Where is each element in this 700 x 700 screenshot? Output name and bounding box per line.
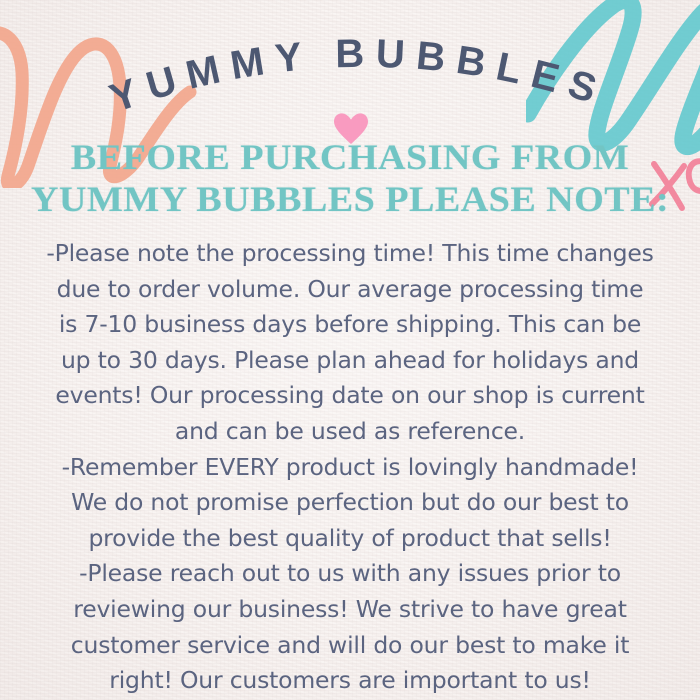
body-line: is 7-10 business days before shipping. T… — [22, 307, 678, 343]
body-line: right! Our customers are important to us… — [22, 663, 678, 699]
body-line: and can be used as reference. — [22, 414, 678, 450]
body-line: due to order volume. Our average process… — [22, 272, 678, 308]
arched-brand-wordmark: YUMMY BUBBLES — [0, 0, 700, 170]
body-line: reviewing our business! We strive to hav… — [22, 592, 678, 628]
heading-line-2: YUMMY BUBBLES PLEASE NOTE: — [0, 178, 700, 220]
body-copy-block: -Please note the processing time! This t… — [22, 236, 678, 699]
body-line: We do not promise perfection but do our … — [22, 485, 678, 521]
body-line: -Please note the processing time! This t… — [22, 236, 678, 272]
body-line: provide the best quality of product that… — [22, 521, 678, 557]
body-line: -Remember EVERY product is lovingly hand… — [22, 450, 678, 486]
brand-wordmark-text: YUMMY BUBBLES — [104, 32, 612, 121]
body-line: up to 30 days. Please plan ahead for hol… — [22, 343, 678, 379]
poster-canvas: YUMMY BUBBLES BEFORE PURCHASING FROM YUM… — [0, 0, 700, 700]
body-line: -Please reach out to us with any issues … — [22, 556, 678, 592]
body-line: customer service and will do our best to… — [22, 628, 678, 664]
body-line: events! Our processing date on our shop … — [22, 378, 678, 414]
